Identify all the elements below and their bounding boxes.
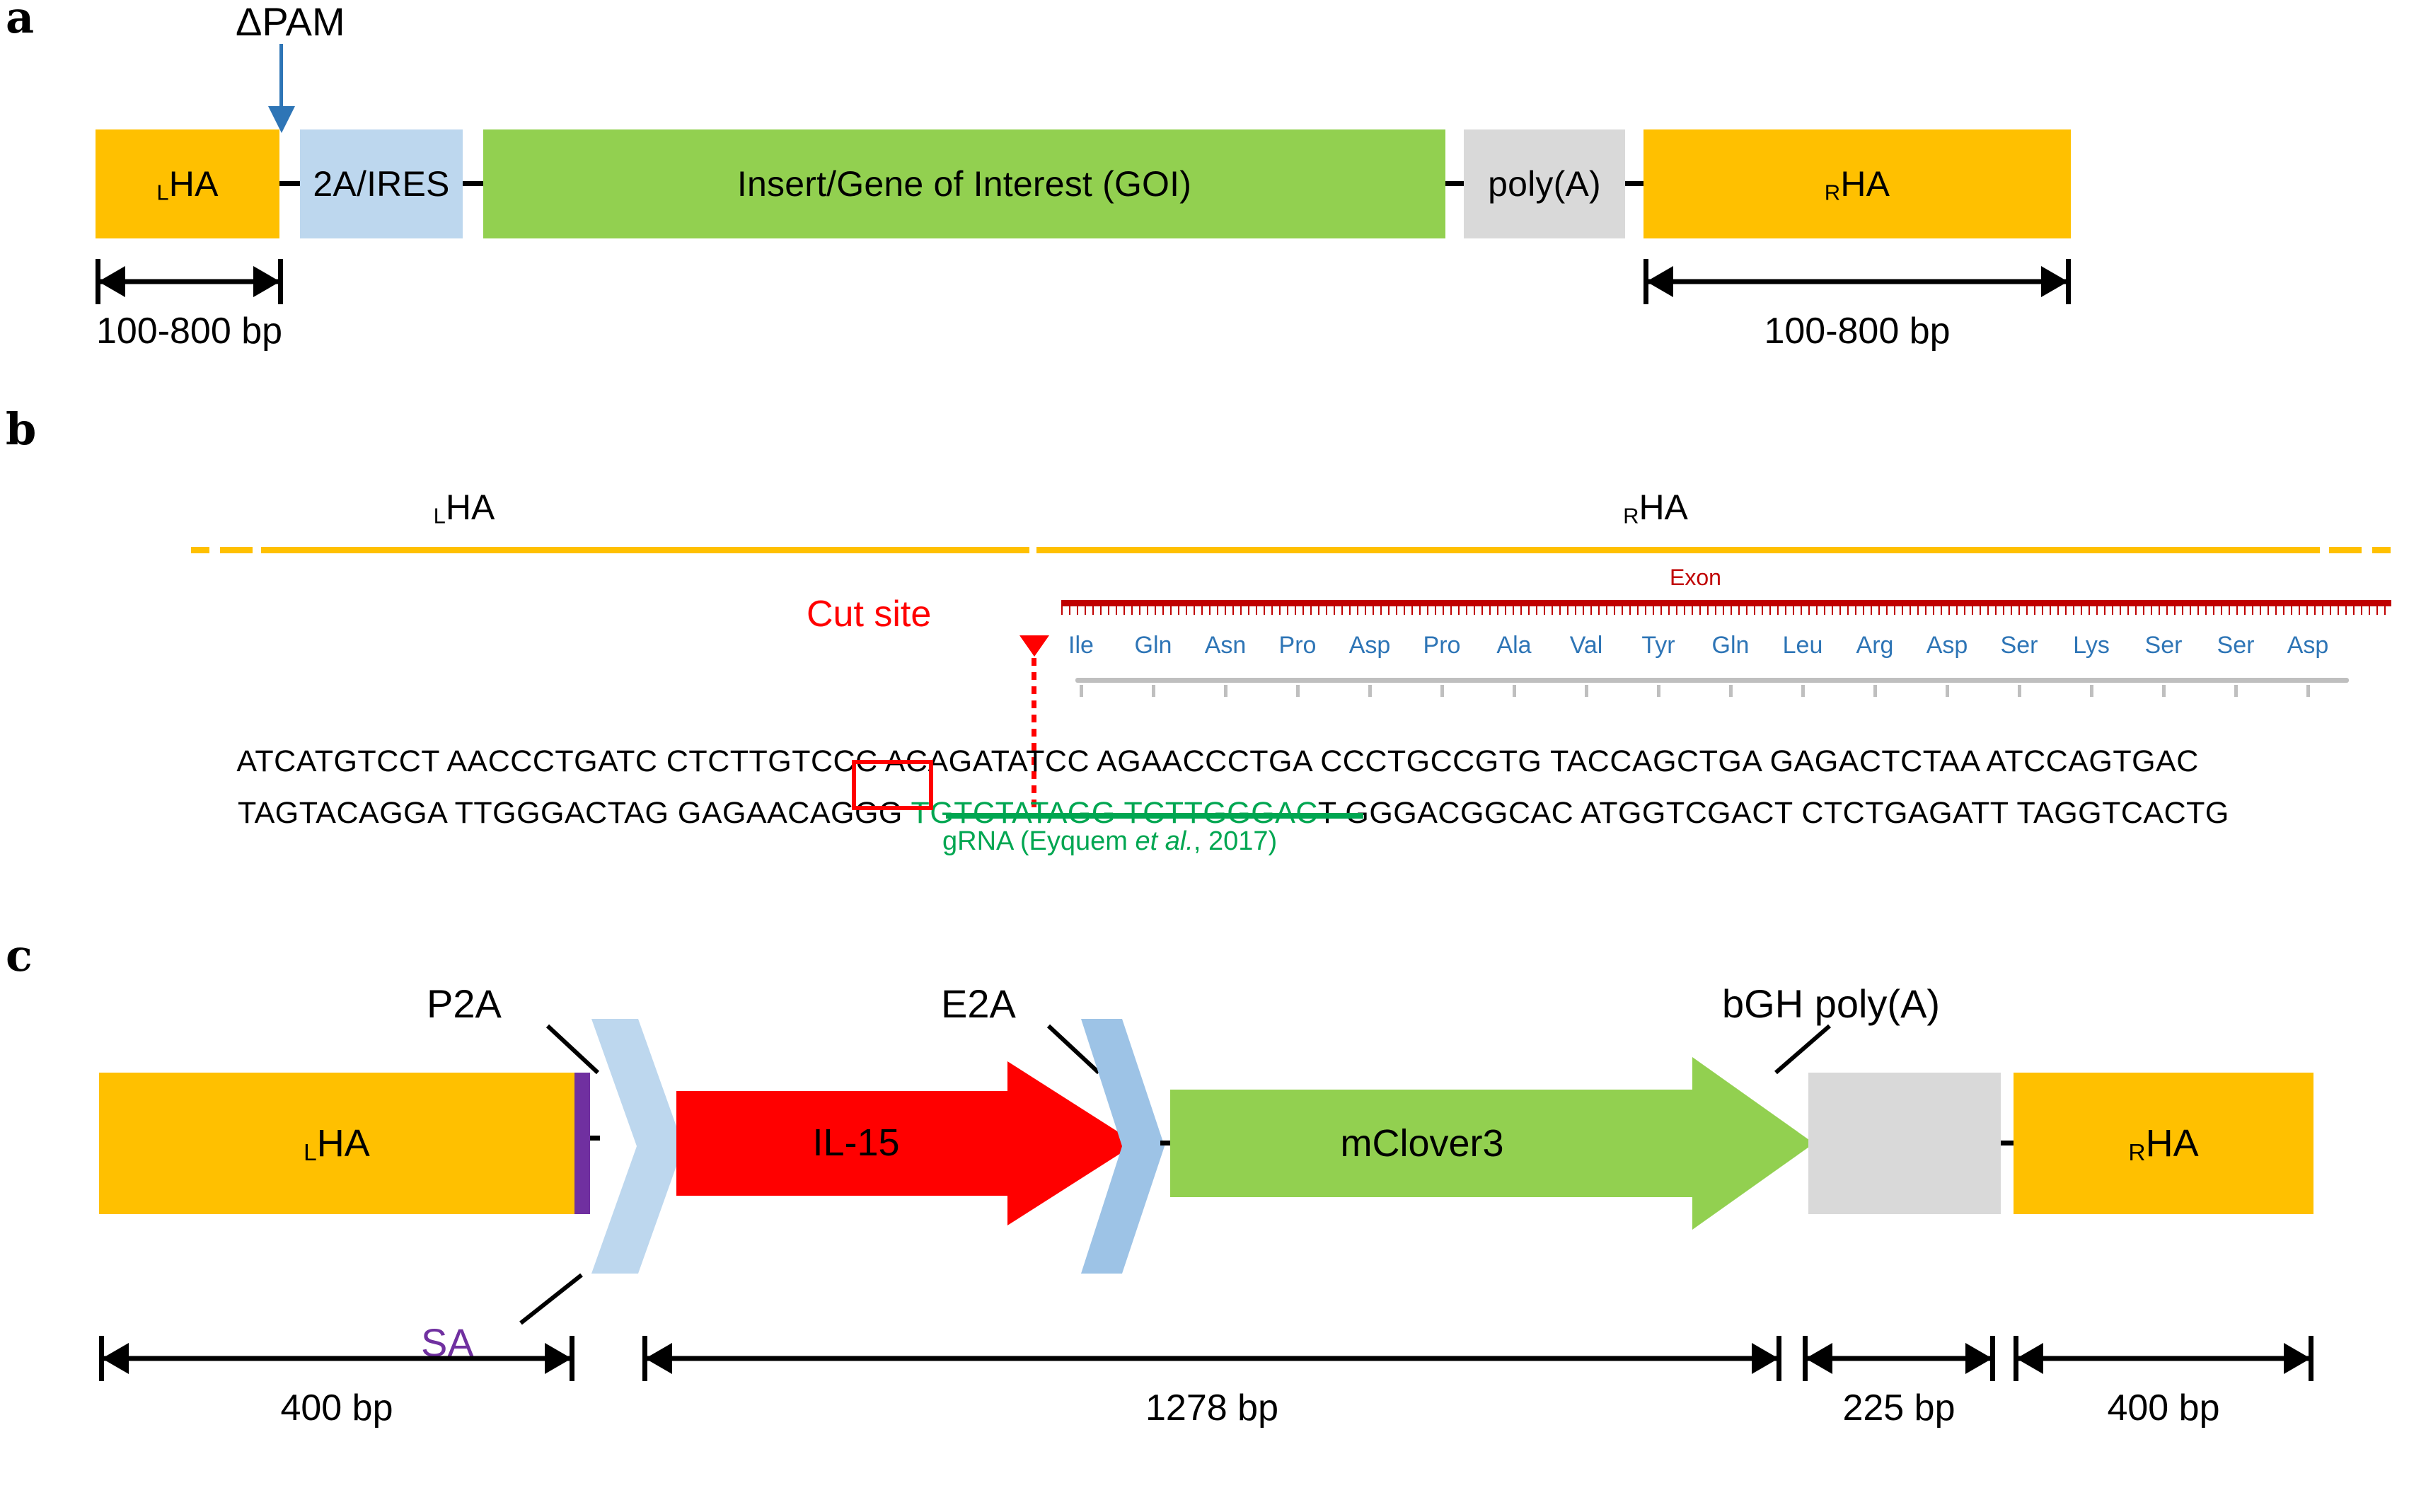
ruler-tick bbox=[2234, 685, 2238, 697]
seq-block: TTGGGACTAG bbox=[455, 796, 669, 830]
grna-underline bbox=[946, 813, 1363, 819]
exon-label: Exon bbox=[1670, 565, 1721, 591]
seq-block: TAGTACAGGA bbox=[238, 796, 446, 830]
panel-c-il15-label: IL-15 bbox=[812, 1121, 899, 1165]
ruler-tick bbox=[1513, 685, 1516, 697]
ruler-tick bbox=[1152, 685, 1155, 697]
panel-c-rha-label: RHA bbox=[2128, 1121, 2198, 1165]
panel-c-il15-label-wrap: IL-15 bbox=[722, 1093, 990, 1192]
bgh-polya-callout-label: bGH poly(A) bbox=[1722, 981, 1940, 1027]
amino-acid: Arg bbox=[1839, 632, 1910, 659]
ruler-tick bbox=[1873, 685, 1877, 697]
amino-acid: Asn bbox=[1190, 632, 1261, 659]
dim-line bbox=[1643, 279, 2071, 284]
dim-arrowhead-left-icon bbox=[1646, 266, 1673, 297]
panel-c-bgh-polya-box bbox=[1808, 1073, 2001, 1214]
panel-c-p2a-chevron bbox=[591, 1019, 683, 1274]
ha-line-dash-right-2 bbox=[2372, 547, 2391, 553]
codon-ruler-bar bbox=[1075, 678, 2349, 683]
seq-block: TAGGTCACTG bbox=[2016, 796, 2229, 830]
dim-arrowhead-right-icon bbox=[1965, 1343, 1992, 1374]
panel-a-letter: a bbox=[6, 0, 34, 40]
ha-line bbox=[261, 547, 2320, 553]
panel-a-goi-box: Insert/Gene of Interest (GOI) bbox=[483, 129, 1445, 238]
ruler-tick bbox=[1224, 685, 1227, 697]
dim-arrowhead-right-icon bbox=[545, 1343, 572, 1374]
ruler-tick bbox=[2090, 685, 2093, 697]
panel-c-mclover3-label-wrap: mClover3 bbox=[1203, 1094, 1641, 1193]
amino-acid: Lys bbox=[2056, 632, 2127, 659]
amino-acid: Ser bbox=[2128, 632, 2199, 659]
panel-a-2a-label: 2A/IRES bbox=[313, 163, 449, 204]
panel-b-letter: b bbox=[6, 408, 36, 451]
dim-line bbox=[642, 1356, 1781, 1361]
panel-a-polya-label: poly(A) bbox=[1488, 163, 1601, 204]
panel-c-rha-dimension-label: 400 bp bbox=[2014, 1387, 2313, 1429]
seq-block: CTCTGAGATT bbox=[1801, 796, 2008, 830]
ruler-tick bbox=[1657, 685, 1660, 697]
dim-arrowhead-right-icon bbox=[2284, 1343, 2311, 1374]
delta-pam-label: ΔPAM bbox=[236, 0, 345, 45]
dim-line bbox=[99, 1356, 574, 1361]
cut-site-triangle-icon bbox=[1019, 635, 1049, 657]
ruler-tick bbox=[1585, 685, 1588, 697]
figure-canvas: a ΔPAM LHA 2A/IRES Insert/Gene of Intere… bbox=[0, 0, 2409, 1512]
panel-c-lha-dimension-label: 400 bp bbox=[99, 1387, 574, 1429]
panel-a-2a-box: 2A/IRES bbox=[300, 129, 463, 238]
dim-line bbox=[2014, 1356, 2313, 1361]
connector-2 bbox=[463, 181, 483, 186]
panel-c-letter: c bbox=[6, 934, 33, 978]
panel-a-rha-dimension-label: 100-800 bp bbox=[1643, 310, 2071, 352]
amino-acid: Ser bbox=[2200, 632, 2271, 659]
dim-arrowhead-left-icon bbox=[1806, 1343, 1832, 1374]
ruler-tick bbox=[1729, 685, 1733, 697]
panel-a-goi-label: Insert/Gene of Interest (GOI) bbox=[737, 163, 1191, 204]
panel-c-insert-dimension-label: 1278 bp bbox=[642, 1387, 1781, 1429]
panel-c-rha-box: RHA bbox=[2014, 1073, 2313, 1214]
dim-arrowhead-right-icon bbox=[2041, 266, 2068, 297]
ha-line-dash-left-1 bbox=[191, 547, 209, 553]
panel-c-lha-label: LHA bbox=[304, 1121, 370, 1165]
ruler-tick bbox=[1801, 685, 1805, 697]
ruler-tick bbox=[1946, 685, 1949, 697]
panel-c-lha-box: LHA bbox=[99, 1073, 574, 1214]
panel-a-polya-box: poly(A) bbox=[1464, 129, 1625, 238]
pam-arrow-shaft bbox=[279, 44, 283, 109]
panel-c-e2a-chevron bbox=[1081, 1019, 1165, 1274]
ruler-tick bbox=[1368, 685, 1372, 697]
amino-acid: Pro bbox=[1406, 632, 1477, 659]
p2a-leader-line bbox=[548, 1026, 598, 1073]
connector-polya-rha bbox=[2001, 1141, 2014, 1145]
ha-line-boundary-gap bbox=[1029, 543, 1036, 557]
grna-caption-pre: gRNA (Eyquem bbox=[942, 826, 1135, 856]
ha-line-dash-left-2 bbox=[220, 547, 253, 553]
amino-acid: Ser bbox=[1984, 632, 2055, 659]
seq-block: GGGACGGCAC bbox=[1345, 796, 1573, 830]
panel-b-rha-label: RHA bbox=[1408, 487, 1903, 529]
grna-caption: gRNA (Eyquem et al., 2017) bbox=[942, 826, 1277, 857]
ha-line-dash-right-1 bbox=[2329, 547, 2362, 553]
ruler-tick bbox=[2306, 685, 2310, 697]
amino-acid: Leu bbox=[1767, 632, 1838, 659]
panel-c-sa-bar bbox=[574, 1073, 590, 1214]
amino-acid: Asp bbox=[2272, 632, 2343, 659]
ruler-tick bbox=[2018, 685, 2021, 697]
cut-site-label: Cut site bbox=[807, 593, 931, 635]
connector-3 bbox=[1445, 181, 1464, 186]
p2a-chevron-shape bbox=[591, 1019, 683, 1274]
sa-leader-line bbox=[521, 1275, 582, 1323]
dim-arrowhead-right-icon bbox=[1752, 1343, 1779, 1374]
panel-a-lha-label: LHA bbox=[156, 163, 218, 204]
dim-arrowhead-left-icon bbox=[102, 1343, 129, 1374]
grna-caption-post: , 2017) bbox=[1194, 826, 1277, 856]
panel-b-lha-label: LHA bbox=[216, 487, 712, 529]
dim-arrowhead-left-icon bbox=[645, 1343, 672, 1374]
amino-acid: Asp bbox=[1334, 632, 1405, 659]
connector-1 bbox=[279, 181, 300, 186]
panel-a-lha-box: LHA bbox=[96, 129, 279, 238]
dim-arrowhead-left-icon bbox=[98, 266, 125, 297]
connector-4 bbox=[1625, 181, 1643, 186]
ruler-tick bbox=[1296, 685, 1300, 697]
seq-block: ATGGTCGACT bbox=[1581, 796, 1793, 830]
dim-arrowhead-left-icon bbox=[2016, 1343, 2043, 1374]
amino-acid: Pro bbox=[1262, 632, 1333, 659]
e2a-callout-label: E2A bbox=[941, 981, 1016, 1027]
amino-acid: Ile bbox=[1046, 632, 1116, 659]
panel-a-rha-label: RHA bbox=[1825, 163, 1890, 204]
e2a-chevron-shape bbox=[1081, 1019, 1165, 1274]
ruler-tick bbox=[1440, 685, 1444, 697]
ruler-tick bbox=[2162, 685, 2166, 697]
panel-a-lha-dimension-label: 100-800 bp bbox=[96, 310, 283, 352]
panel-c-polya-dimension-label: 225 bp bbox=[1803, 1387, 1995, 1429]
amino-acid: Tyr bbox=[1623, 632, 1694, 659]
grna-caption-italic: et al. bbox=[1135, 826, 1193, 856]
p2a-callout-label: P2A bbox=[427, 981, 502, 1027]
panel-a-rha-box: RHA bbox=[1643, 129, 2071, 238]
amino-acid: Gln bbox=[1118, 632, 1189, 659]
seq-block: GAGAACA bbox=[678, 796, 831, 830]
pam-highlight-box bbox=[852, 760, 933, 810]
amino-acid: Ala bbox=[1479, 632, 1549, 659]
ruler-tick bbox=[1080, 685, 1083, 697]
exon-teeth bbox=[1061, 606, 2391, 615]
amino-acid: Asp bbox=[1912, 632, 1982, 659]
amino-acid: Val bbox=[1551, 632, 1622, 659]
amino-acid: Gln bbox=[1695, 632, 1766, 659]
panel-c-mclover3-label: mClover3 bbox=[1340, 1121, 1503, 1165]
dim-arrowhead-right-icon bbox=[253, 266, 280, 297]
